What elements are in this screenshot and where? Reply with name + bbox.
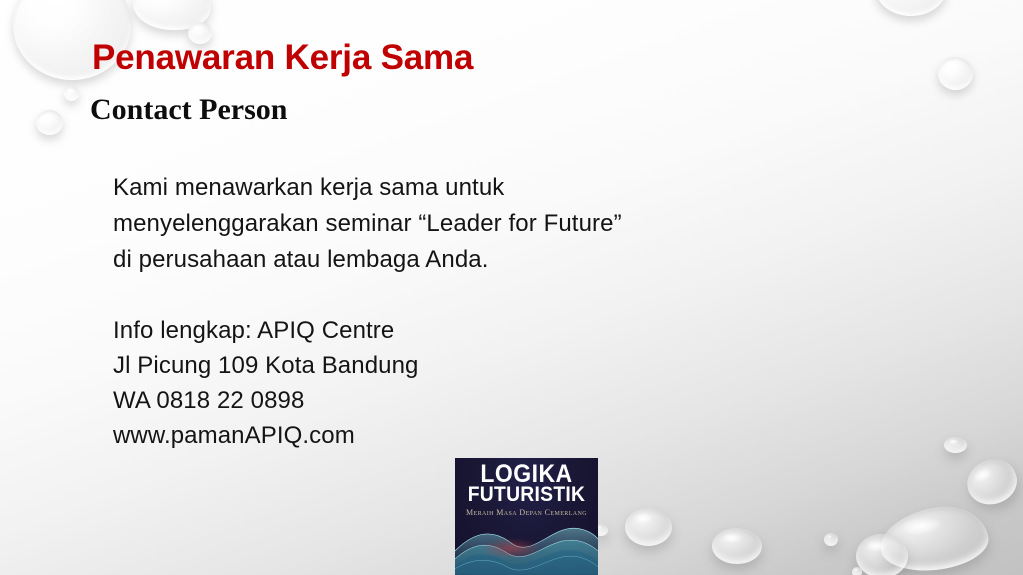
droplet-icon bbox=[944, 437, 967, 453]
body-paragraph: Kami menawarkan kerja sama untuk menyele… bbox=[113, 170, 622, 278]
book-cover-image: LOGIKA FUTURISTIK Meraih Masa Depan Ceme… bbox=[455, 458, 598, 575]
droplet-icon bbox=[875, 0, 947, 16]
body-line: Kami menawarkan kerja sama untuk bbox=[113, 170, 622, 206]
droplet-icon bbox=[36, 110, 63, 135]
droplet-icon bbox=[876, 501, 992, 575]
droplet-icon bbox=[852, 567, 862, 575]
section-heading: Contact Person bbox=[90, 93, 287, 127]
contact-line-address: Jl Picung 109 Kota Bandung bbox=[113, 348, 419, 383]
contact-line-whatsapp: WA 0818 22 0898 bbox=[113, 383, 419, 418]
contact-line-organization: Info lengkap: APIQ Centre bbox=[113, 313, 419, 348]
body-line: menyelenggarakan seminar “Leader for Fut… bbox=[113, 206, 622, 242]
droplet-icon bbox=[938, 57, 973, 90]
droplet-icon bbox=[712, 528, 762, 564]
book-title-line1: LOGIKA bbox=[461, 463, 593, 485]
book-subtitle: Meraih Masa Depan Cemerlang bbox=[455, 508, 598, 517]
droplet-icon bbox=[133, 0, 211, 30]
wave-graphic-icon bbox=[455, 507, 598, 575]
droplet-icon bbox=[64, 86, 79, 101]
droplet-icon bbox=[856, 534, 908, 575]
contact-details: Info lengkap: APIQ Centre Jl Picung 109 … bbox=[113, 313, 419, 453]
book-title-line2: FUTURISTIK bbox=[461, 485, 593, 505]
body-line: di perusahaan atau lembaga Anda. bbox=[113, 242, 622, 278]
contact-line-website: www.pamanAPIQ.com bbox=[113, 418, 419, 453]
presentation-slide: Penawaran Kerja Sama Contact Person Kami… bbox=[0, 0, 1023, 575]
droplet-icon bbox=[824, 533, 838, 546]
droplet-icon bbox=[625, 508, 672, 546]
page-title: Penawaran Kerja Sama bbox=[92, 38, 473, 78]
droplet-icon bbox=[960, 452, 1023, 513]
